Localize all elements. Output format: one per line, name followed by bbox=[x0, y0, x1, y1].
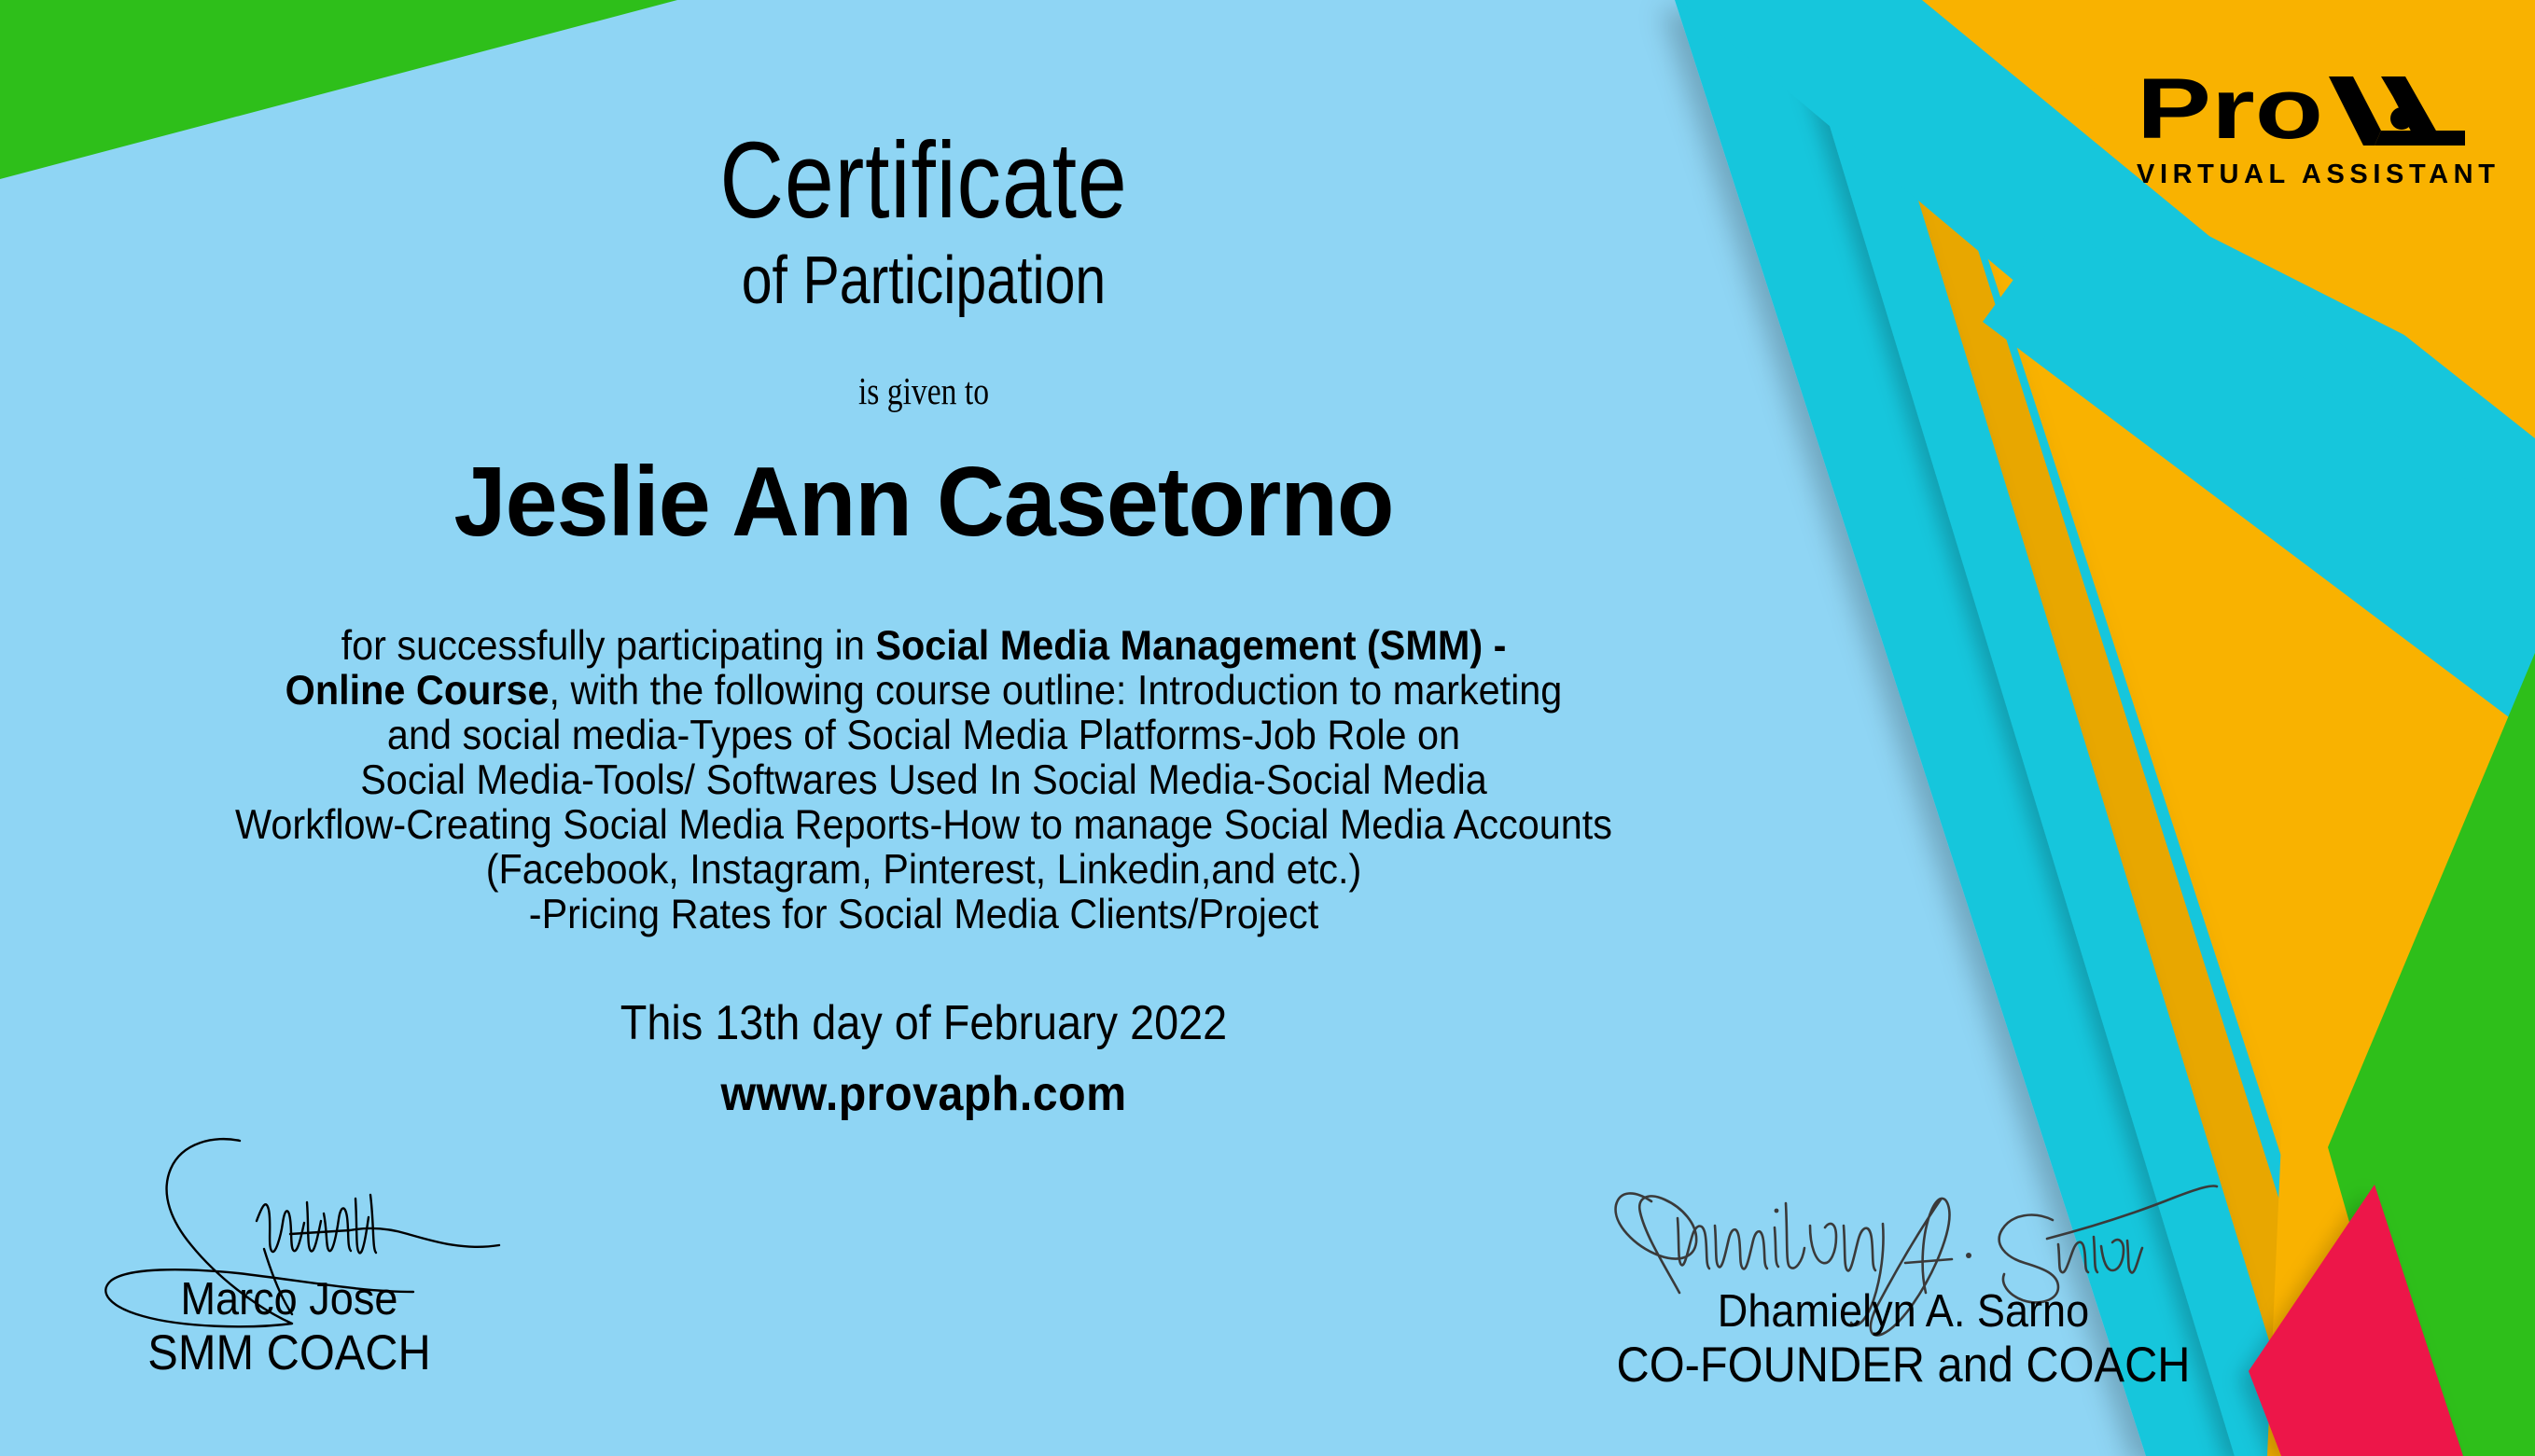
logo-a-counter-dot bbox=[2390, 107, 2413, 130]
body-seg-5: Social Media-Tools/ Softwares Used In So… bbox=[360, 757, 1487, 803]
body-seg-8: -Pricing Rates for Social Media Clients/… bbox=[529, 892, 1318, 937]
logo-text-pro: Pro bbox=[2137, 73, 2323, 153]
logo-letter-v bbox=[2329, 76, 2381, 146]
certificate-content: Certificate of Participation is given to… bbox=[0, 0, 1847, 1122]
certificate-subtitle: of Participation bbox=[166, 234, 1681, 314]
website-url: www.provaph.com bbox=[64, 1051, 1782, 1122]
green-wedge-bottom-right bbox=[2328, 653, 2535, 1456]
recipient-name: Jeslie Ann Casetorno bbox=[47, 413, 1802, 551]
prova-wordmark-icon: Pro bbox=[2137, 73, 2469, 153]
signatory-role-left: SMM COACH bbox=[62, 1324, 517, 1380]
certificate-title: Certificate bbox=[166, 0, 1681, 234]
body-seg-6: Workflow-Creating Social Media Reports-H… bbox=[235, 802, 1612, 848]
orange-upper-corner bbox=[1987, 0, 2535, 438]
body-seg-7: (Facebook, Instagram, Pinterest, Linkedi… bbox=[486, 847, 1362, 893]
cyan-band-under-logo bbox=[1983, 222, 2535, 737]
body-seg-2-bold: Online Course bbox=[286, 668, 550, 714]
signature-block-left: Marco Jose SMM COACH bbox=[42, 1133, 536, 1380]
body-seg-0: for successfully participating in bbox=[341, 623, 876, 669]
body-seg-3: , with the following course outline: Int… bbox=[550, 668, 1563, 714]
logo-tagline: VIRTUAL ASSISTANT bbox=[2137, 159, 2500, 190]
orange-lower-wedge bbox=[2267, 616, 2535, 1456]
prova-logo: Pro VIRTUAL ASSISTANT bbox=[2137, 73, 2500, 190]
course-description: for successfully participating in Social… bbox=[64, 551, 1782, 937]
issue-date: This 13th day of February 2022 bbox=[92, 937, 1755, 1051]
body-seg-4: and social media-Types of Social Media P… bbox=[387, 713, 1460, 758]
given-to-label: is given to bbox=[166, 314, 1681, 413]
signatory-name-right: Dhamielyn A. Sarno bbox=[1560, 1185, 2247, 1336]
red-triangle-bottom-right bbox=[2249, 1185, 2463, 1456]
certificate-canvas: Pro VIRTUAL ASSISTANT Certificate of Par… bbox=[0, 0, 2535, 1456]
logo-letter-a-bar bbox=[2375, 131, 2465, 146]
signature-block-right: Dhamielyn A. Sarno CO-FOUNDER and COACH bbox=[1530, 1185, 2277, 1392]
signatory-role-right: CO-FOUNDER and COACH bbox=[1560, 1336, 2247, 1392]
body-seg-1-bold: Social Media Management (SMM) - bbox=[875, 623, 1506, 669]
signatory-name-left: Marco Jose bbox=[62, 1133, 517, 1324]
